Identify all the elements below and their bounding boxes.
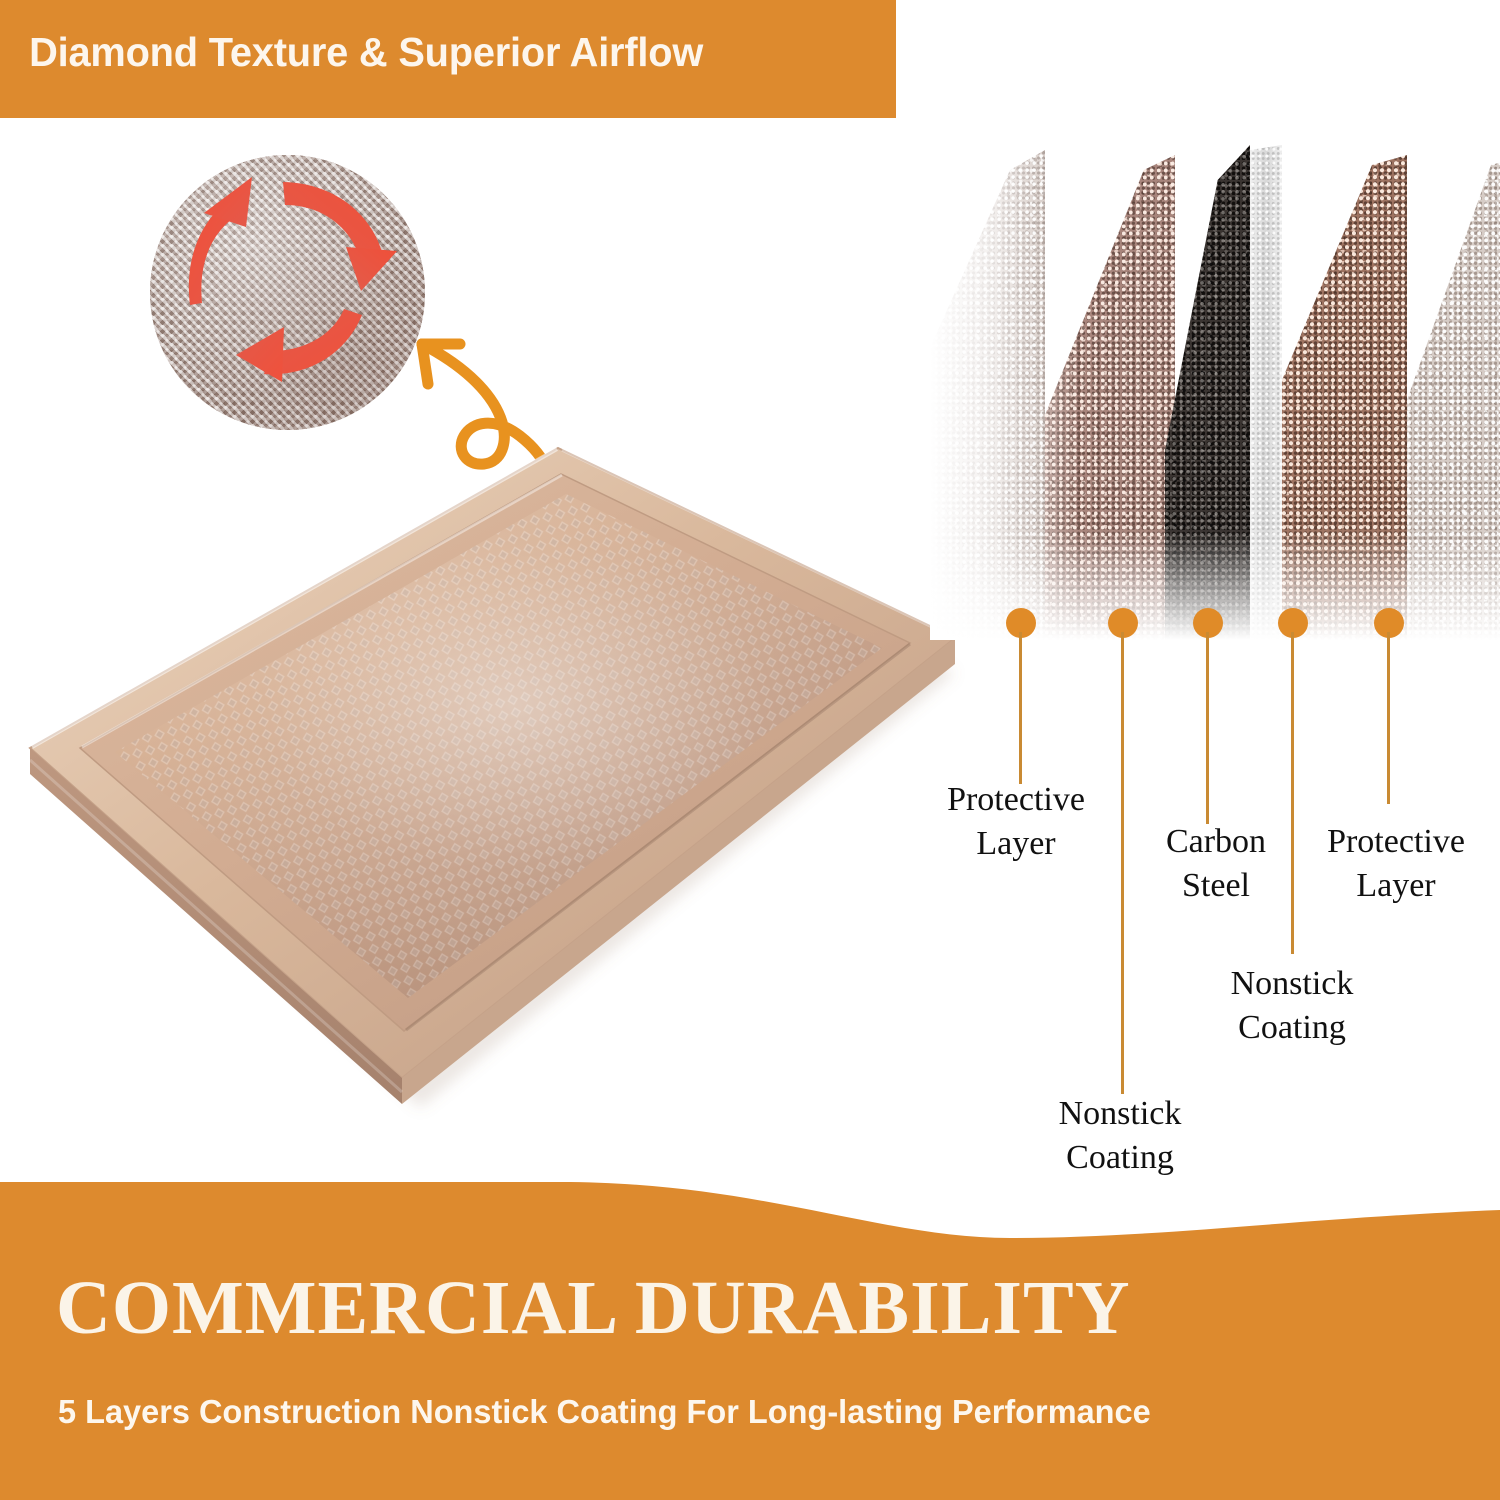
layer-nonstick-inner: [1282, 140, 1407, 640]
footer-subline: 5 Layers Construction Nonstick Coating F…: [58, 1393, 1151, 1431]
callout-line-3: [1206, 632, 1209, 824]
header-title: Diamond Texture & Superior Airflow: [0, 29, 703, 76]
layer-protective-inner: [1407, 140, 1500, 640]
five-layer-cross-section: [930, 140, 1500, 640]
diamond-texture-closeup: [150, 155, 425, 430]
layer-carbon-steel: [1165, 140, 1250, 640]
callout-label-1: Protective Layer: [916, 778, 1116, 865]
header-banner: Diamond Texture & Superior Airflow: [0, 0, 896, 118]
layer-steel-highlight: [1250, 140, 1282, 640]
callout-label-4: Nonstick Coating: [1192, 962, 1392, 1049]
footer-headline: COMMERCIAL DURABILITY: [56, 1265, 1131, 1352]
airflow-arrows-icon: [150, 155, 425, 430]
layer-nonstick-outer: [1045, 140, 1175, 640]
baking-sheet-pan: [10, 430, 970, 1130]
callout-line-2: [1121, 632, 1124, 1094]
callout-label-3: Carbon Steel: [1126, 820, 1306, 907]
callout-line-4: [1291, 632, 1294, 954]
callout-line-5: [1387, 632, 1390, 804]
layer-protective-outer: [930, 140, 1045, 640]
footer-band: COMMERCIAL DURABILITY 5 Layers Construct…: [0, 1160, 1500, 1500]
callout-label-5: Protective Layer: [1296, 820, 1496, 907]
infographic-canvas: Diamond Texture & Superior Airflow: [0, 0, 1500, 1500]
callout-line-1: [1019, 632, 1022, 784]
